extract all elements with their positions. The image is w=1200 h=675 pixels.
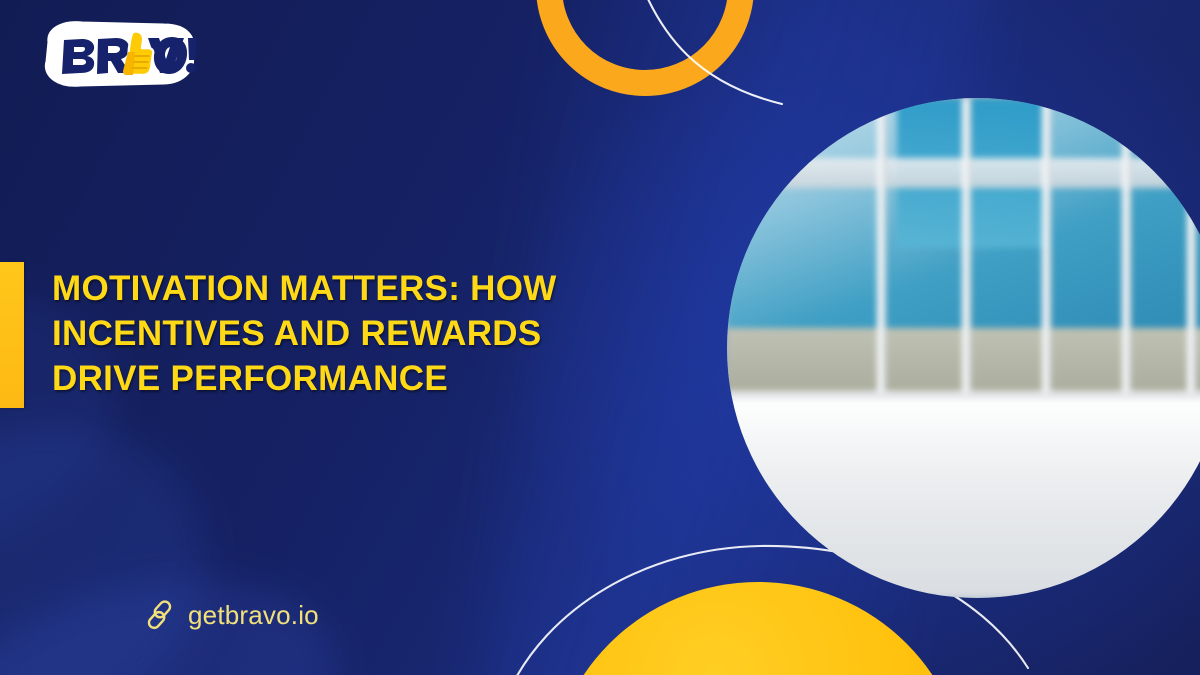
hero-photo — [727, 98, 1200, 598]
headline-line-3: DRIVE PERFORMANCE — [52, 356, 632, 401]
headline-line-1: MOTIVATION MATTERS: HOW — [52, 266, 632, 311]
website-url[interactable]: getbravo.io — [143, 598, 319, 632]
orange-ring-decoration — [536, 0, 754, 96]
link-icon — [143, 598, 177, 632]
url-label: getbravo.io — [188, 600, 319, 631]
bravo-logo[interactable] — [36, 18, 204, 94]
blog-banner: MOTIVATION MATTERS: HOW INCENTIVES AND R… — [0, 0, 1200, 675]
yellow-accent-bar — [0, 262, 24, 408]
headline-line-2: INCENTIVES AND REWARDS — [52, 311, 632, 356]
page-title: MOTIVATION MATTERS: HOW INCENTIVES AND R… — [52, 266, 632, 401]
office-background — [727, 98, 1200, 598]
